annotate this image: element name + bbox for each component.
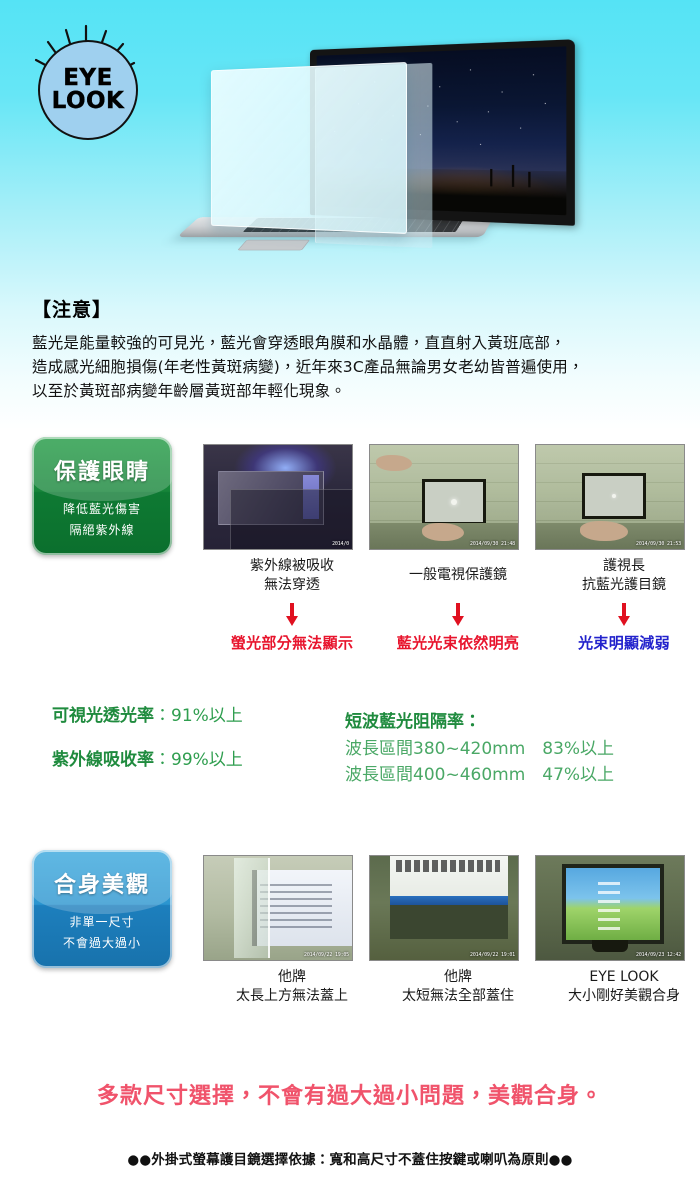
product-infographic-page: EYE LOOK [0,0,700,1200]
ordinary-tv-protector-photo: 2014/09/30 21:48 [369,444,519,550]
down-arrow-icon [365,603,551,627]
uv-caption-1-line2: 無法穿透 [199,576,385,595]
spec-blue-block-title: 短波藍光阻隔率： [345,707,481,732]
spec-uv-absorb-label: 紫外線吸收率 [52,750,154,770]
uv-caption-1: 紫外線被吸收 無法穿透 [199,557,385,595]
badge-fit-subtext: 非單一尺寸 不會過大過小 [32,912,172,954]
eyelook-anti-blue-light-photo: 2014/09/30 21:53 [535,444,685,550]
brand-logo: EYE LOOK [20,18,140,138]
notice-body: 藍光是能量較強的可見光，藍光會穿透眼角膜和水晶體，直直射入黃班底部， 造成感光細… [32,331,672,403]
photo-timestamp: 2014/09/30 21:53 [636,541,681,547]
photo-timestamp: 2014/09/22 19:01 [470,952,515,958]
hand-graphic [376,455,412,471]
blue-light-filter-panel [211,62,407,234]
badge-fit-appearance: 合身美觀 非單一尺寸 不會過大過小 [32,850,172,968]
laptop-illustration [180,50,640,285]
photo-timestamp: 2014/09/22 19:05 [304,952,349,958]
fit-caption-1-line1: 他牌 [199,968,385,987]
monitor-graphic [422,479,486,525]
monitor-body-graphic [390,905,508,939]
uv-caption-2-line1: 一般電視保護鏡 [365,566,551,585]
notice-line-2: 造成感光細胞損傷(年老性黃斑病變)，近年來3C產品無論男女老幼皆普遍使用， [32,355,672,379]
spec-blue-block-line-2: 波長區間400~460mm 47%以上 [345,760,614,785]
oversized-protector-graphic [234,858,270,958]
screen-text-lines [396,860,500,872]
bottom-footer-note: ●●外掛式螢幕護目鏡選擇依據：寬和高尺寸不蓋住按鍵或喇叭為原則●● [0,1148,700,1168]
fit-caption-2: 他牌 太短無法全部蓋住 [365,968,551,1006]
badge-eye-protection: 保護眼睛 降低藍光傷害 隔絕紫外線 [32,437,172,555]
notice-line-1: 藍光是能量較強的可見光，藍光會穿透眼角膜和水晶體，直直射入黃班底部， [32,331,672,355]
eyelook-perfect-fit-photo: 2014/09/23 12:42 [535,855,685,961]
monitor-stand-graphic [592,940,628,952]
other-brand-too-long-photo: 2014/09/22 19:05 [203,855,353,961]
uv-light-banknote-photo: 2014/0 [203,444,353,550]
spec-block: 可視光透光率：91%以上 紫外線吸收率：99%以上 短波藍光阻隔率： 波長區間3… [0,705,700,800]
photo-timestamp: 2014/0 [332,541,349,547]
light-beam-dot [612,494,616,498]
logo-line-1: EYE [63,67,113,90]
spec-visible-light-value: ：91%以上 [154,706,243,726]
down-arrow-icon [199,603,385,627]
badge-eye-subtext: 降低藍光傷害 隔絕紫外線 [32,499,172,541]
desktop-icons-graphic [598,882,620,930]
tree-silhouette [490,169,492,186]
photo-timestamp: 2014/09/30 21:48 [470,541,515,547]
uv-caption-1-line1: 紫外線被吸收 [199,557,385,576]
badge-eye-sub-1: 降低藍光傷害 [32,499,172,520]
spec-blue-block-line-1: 波長區間380~420mm 83%以上 [345,734,614,759]
hand-graphic [580,521,628,541]
spec-uv-absorb-value: ：99%以上 [154,750,243,770]
badge-fit-title: 合身美觀 [32,867,172,899]
other-brand-too-short-photo: 2014/09/22 19:01 [369,855,519,961]
fit-caption-3-line1: EYE LOOK [531,968,700,987]
screen-text-lines [260,884,332,928]
badge-fit-sub-2: 不會過大過小 [32,933,172,954]
badge-fit-sub-1: 非單一尺寸 [32,912,172,933]
fit-caption-2-line2: 太短無法全部蓋住 [365,987,551,1006]
spec-visible-light-label: 可視光透光率 [52,706,154,726]
notice-block: 【注意】 藍光是能量較強的可見光，藍光會穿透眼角膜和水晶體，直直射入黃班底部， … [32,295,672,403]
badge-eye-title: 保護眼睛 [32,454,172,486]
fit-caption-3: EYE LOOK 大小剛好美觀合身 [531,968,700,1006]
laptop-trackpad [237,240,310,251]
uv-photo-row: 2014/0 2014/09/30 21:48 2014/09/30 21:53 [195,444,675,548]
taskbar-graphic [390,896,508,905]
fit-caption-3-line2: 大小剛好美觀合身 [531,987,700,1006]
badge-eye-sub-2: 隔絕紫外線 [32,520,172,541]
hand-graphic [422,523,464,541]
monitor-graphic [582,473,646,519]
monitor-screen-graphic [562,864,664,944]
photo-timestamp: 2014/09/23 12:42 [636,952,681,958]
down-arrow-icon [531,603,700,627]
uv-caption-3: 護視長 抗藍光護目鏡 [531,557,700,595]
fit-caption-1-line2: 太長上方無法蓋上 [199,987,385,1006]
fit-caption-2-line1: 他牌 [365,968,551,987]
uv-result-3: 光束明顯減弱 [524,632,700,653]
light-beam-dot [451,499,457,505]
spec-uv-absorb: 紫外線吸收率：99%以上 [52,752,243,769]
logo-line-2: LOOK [52,90,125,113]
tree-silhouette [528,172,530,188]
notice-line-3: 以至於黃斑部病變年齡層黃斑部年輕化現象。 [32,379,672,403]
bottom-headline: 多款尺寸選擇，不會有過大過小問題，美觀合身。 [0,1078,700,1110]
fit-caption-1: 他牌 太長上方無法蓋上 [199,968,385,1006]
spec-visible-light: 可視光透光率：91%以上 [52,708,243,725]
notice-title: 【注意】 [32,295,672,322]
uv-caption-3-line2: 抗藍光護目鏡 [531,576,700,595]
logo-circle: EYE LOOK [38,40,138,140]
fit-photo-row: 2014/09/22 19:05 2014/09/22 19:01 2014/0… [195,855,675,959]
uv-caption-3-line1: 護視長 [531,557,700,576]
tree-silhouette [512,165,514,187]
uv-caption-2: 一般電視保護鏡 [365,557,551,585]
